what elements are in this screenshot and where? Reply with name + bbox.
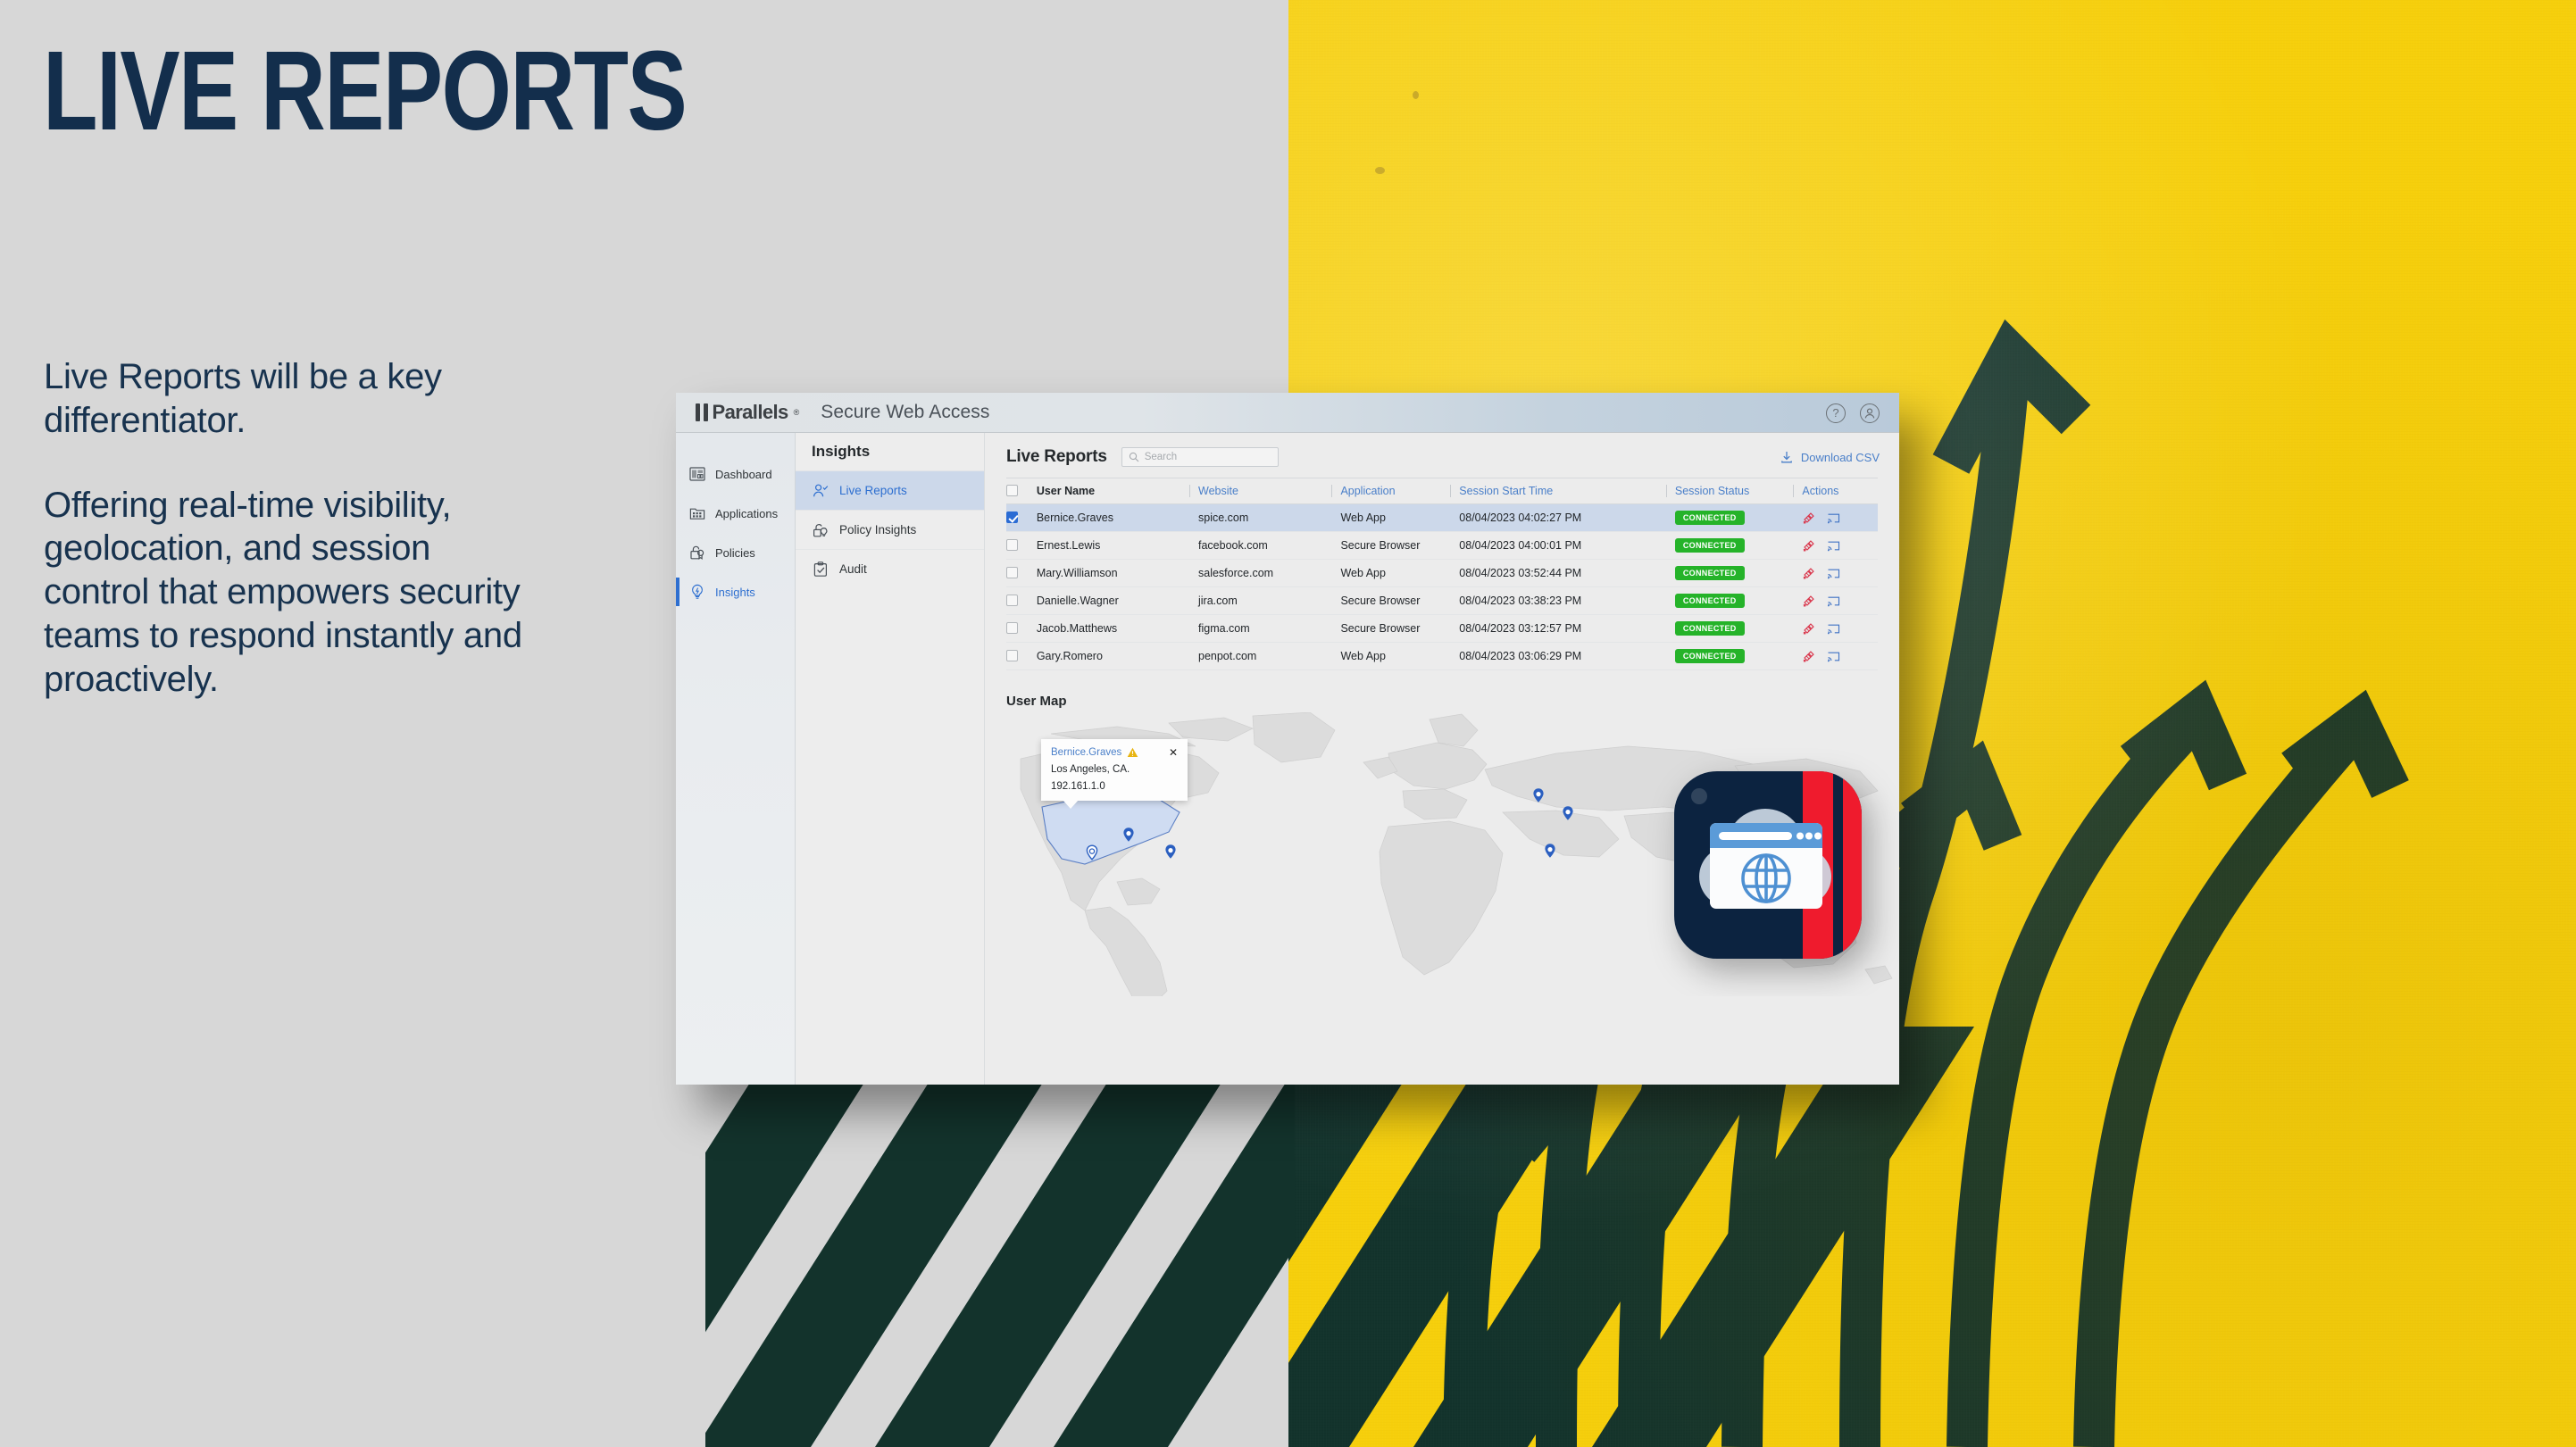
dashboard-icon [688,465,706,483]
cell-application: Secure Browser [1340,615,1459,643]
slide-canvas: LIVE REPORTS Live Reports will be a key … [0,0,2576,1447]
paper-speck [1413,91,1419,99]
screen-share-icon[interactable] [1827,539,1840,553]
map-pin[interactable] [1163,844,1178,863]
screen-share-icon[interactable] [1827,511,1840,525]
live-reports-table-wrapper: User Name Website Application Session St… [985,478,1899,670]
cell-actions [1802,532,1878,560]
disconnect-session-icon[interactable] [1802,539,1815,553]
avatar-glyph [1863,407,1876,420]
status-badge: CONNECTED [1675,594,1745,608]
insights-icon [688,583,706,601]
disconnect-session-icon[interactable] [1802,622,1815,636]
cell-session-status: CONNECTED [1675,643,1803,670]
parallels-logo: Parallels ® [696,401,799,424]
cell-website: jira.com [1198,587,1340,615]
search-placeholder: Search [1145,452,1177,462]
cell-website: facebook.com [1198,532,1340,560]
tooltip-ip: 192.161.1.0 [1051,781,1178,792]
disconnect-session-icon[interactable] [1802,650,1815,663]
sidebar-item-label: Policies [715,546,755,560]
row-select-cell[interactable] [1006,643,1037,670]
user-map-title: User Map [985,670,1899,709]
cell-actions [1802,587,1878,615]
column-header-session-status[interactable]: Session Status [1675,478,1803,504]
cell-application: Secure Browser [1340,532,1459,560]
row-select-cell[interactable] [1006,504,1037,532]
column-header-session-start-time[interactable]: Session Start Time [1459,478,1675,504]
subnav-item-audit[interactable]: Audit [796,549,984,588]
map-pin[interactable] [1531,787,1546,807]
map-pin[interactable] [1085,844,1099,864]
sidebar-item-insights[interactable]: Insights [676,572,795,611]
location-pin-icon [1531,787,1546,807]
row-checkbox[interactable] [1006,622,1018,634]
download-icon [1780,450,1794,464]
download-csv-button[interactable]: Download CSV [1780,450,1880,464]
cell-session-status: CONNECTED [1675,560,1803,587]
location-pin-icon [1121,827,1136,846]
status-badge: CONNECTED [1675,566,1745,580]
subnav-item-label: Policy Insights [839,523,916,536]
primary-nav-rail: Dashboard Applications [676,433,796,1085]
cell-actions [1802,615,1878,643]
column-header-actions[interactable]: Actions [1802,478,1878,504]
row-checkbox[interactable] [1006,511,1018,523]
row-checkbox[interactable] [1006,595,1018,606]
cell-user-name[interactable]: Gary.Romero [1037,643,1198,670]
cell-user-name[interactable]: Danielle.Wagner [1037,587,1198,615]
cell-user-name[interactable]: Ernest.Lewis [1037,532,1198,560]
row-select-cell[interactable] [1006,532,1037,560]
cell-session-status: CONNECTED [1675,504,1803,532]
search-input[interactable]: Search [1121,447,1279,467]
search-icon [1129,452,1139,462]
cell-session-start-time: 08/04/2023 03:52:44 PM [1459,560,1675,587]
location-pin-icon [1561,805,1575,825]
screen-share-icon[interactable] [1827,650,1840,663]
row-select-cell[interactable] [1006,615,1037,643]
disconnect-session-icon[interactable] [1802,511,1815,525]
registered-mark: ® [794,408,800,417]
subnav-item-live-reports[interactable]: Live Reports [796,470,984,510]
help-icon[interactable]: ? [1826,403,1846,423]
cell-user-name[interactable]: Mary.Williamson [1037,560,1198,587]
sidebar-item-policies[interactable]: Policies [676,533,795,572]
user-map[interactable]: Bernice.Graves ✕ Los Angeles, CA. 192.16… [985,712,1899,996]
map-pin[interactable] [1561,805,1575,825]
row-checkbox[interactable] [1006,539,1018,551]
tooltip-tail [1063,800,1079,809]
cell-application: Web App [1340,560,1459,587]
cell-session-start-time: 08/04/2023 03:12:57 PM [1459,615,1675,643]
user-account-icon[interactable] [1860,403,1880,423]
screen-share-icon[interactable] [1827,567,1840,580]
select-all-checkbox[interactable] [1006,485,1018,496]
map-tooltip[interactable]: Bernice.Graves ✕ Los Angeles, CA. 192.16… [1041,739,1188,801]
table-header: User Name Website Application Session St… [1006,478,1878,504]
tooltip-user-name[interactable]: Bernice.Graves [1051,747,1121,758]
location-pin-icon [1543,843,1557,862]
slide-headline: LIVE REPORTS [43,34,686,149]
cell-session-status: CONNECTED [1675,587,1803,615]
status-badge: CONNECTED [1675,511,1745,525]
row-select-cell[interactable] [1006,560,1037,587]
table-header-row: User Name Website Application Session St… [1006,478,1878,504]
cell-session-status: CONNECTED [1675,532,1803,560]
secure-web-access-app-icon [1669,766,1867,964]
table-row[interactable]: Danielle.Wagnerjira.comSecure Browser08/… [1006,587,1878,615]
row-select-cell[interactable] [1006,587,1037,615]
cell-session-start-time: 08/04/2023 04:02:27 PM [1459,504,1675,532]
brand-name: Parallels [713,401,788,424]
column-header-website[interactable]: Website [1198,478,1340,504]
cell-session-start-time: 08/04/2023 03:38:23 PM [1459,587,1675,615]
sidebar-item-dashboard[interactable]: Dashboard [676,454,795,494]
subnav-item-label: Audit [839,562,867,576]
location-pin-icon [1085,844,1099,864]
main-toolbar: Live Reports Search Download [985,433,1899,467]
insights-panel-title: Insights [796,433,984,470]
cell-actions [1802,643,1878,670]
sidebar-item-label: Insights [715,586,755,599]
main-content: Live Reports Search Download [985,433,1899,1085]
screen-share-icon[interactable] [1827,622,1840,636]
column-header-application[interactable]: Application [1340,478,1459,504]
disconnect-session-icon[interactable] [1802,567,1815,580]
row-checkbox[interactable] [1006,567,1018,578]
titlebar-actions: ? [1826,393,1880,433]
live-reports-icon [812,482,829,500]
cell-session-start-time: 08/04/2023 03:06:29 PM [1459,643,1675,670]
screen-share-icon[interactable] [1827,595,1840,608]
select-all-cell[interactable] [1006,478,1037,504]
window-titlebar: Parallels ® Secure Web Access ? [676,393,1899,433]
table-row[interactable]: Bernice.Gravesspice.comWeb App08/04/2023… [1006,504,1878,532]
tooltip-location: Los Angeles, CA. [1051,764,1178,775]
cell-website: spice.com [1198,504,1340,532]
map-pin[interactable] [1543,843,1557,862]
cell-user-name[interactable]: Jacob.Matthews [1037,615,1198,643]
body-paragraph-2: Offering real-time visibility, geolocati… [44,484,544,702]
sidebar-item-label: Applications [715,507,778,520]
live-reports-table: User Name Website Application Session St… [1006,478,1878,670]
secure-web-access-window: Parallels ® Secure Web Access ? [676,393,1899,1085]
sidebar-item-label: Dashboard [715,468,772,481]
column-header-user-name[interactable]: User Name [1037,478,1198,504]
cell-website: figma.com [1198,615,1340,643]
tooltip-header: Bernice.Graves ✕ [1051,747,1178,758]
cell-actions [1802,560,1878,587]
policies-icon [688,544,706,561]
cell-actions [1802,504,1878,532]
cell-application: Web App [1340,504,1459,532]
table-body: Bernice.Gravesspice.comWeb App08/04/2023… [1006,504,1878,670]
table-row[interactable]: Mary.Williamsonsalesforce.comWeb App08/0… [1006,560,1878,587]
status-badge: CONNECTED [1675,538,1745,553]
cell-website: salesforce.com [1198,560,1340,587]
paper-speck [1375,167,1385,174]
cell-user-name[interactable]: Bernice.Graves [1037,504,1198,532]
slide-body-text: Live Reports will be a key differentiato… [44,355,544,702]
parallels-bars-icon [696,403,708,421]
body-paragraph-1: Live Reports will be a key differentiato… [44,355,544,443]
status-badge: CONNECTED [1675,649,1745,663]
subnav-item-policy-insights[interactable]: Policy Insights [796,510,984,549]
page-title: Live Reports [1006,447,1107,467]
cell-website: penpot.com [1198,643,1340,670]
subnav-item-label: Live Reports [839,484,907,497]
cell-session-status: CONNECTED [1675,615,1803,643]
help-glyph: ? [1832,407,1838,419]
stripes-left-overflow [705,1027,1295,1447]
cell-session-start-time: 08/04/2023 04:00:01 PM [1459,532,1675,560]
app-title: Secure Web Access [821,402,989,423]
download-csv-label: Download CSV [1801,451,1880,464]
applications-icon [688,504,706,522]
insights-subnav: Insights Live Reports [796,433,985,1085]
map-pin[interactable] [1121,827,1136,846]
status-badge: CONNECTED [1675,621,1745,636]
cell-application: Secure Browser [1340,587,1459,615]
row-checkbox[interactable] [1006,650,1018,661]
policy-insights-icon [812,521,829,539]
cell-application: Web App [1340,643,1459,670]
table-row[interactable]: Jacob.Matthewsfigma.comSecure Browser08/… [1006,615,1878,643]
table-row[interactable]: Gary.Romeropenpot.comWeb App08/04/2023 0… [1006,643,1878,670]
audit-icon [812,561,829,578]
window-body: Dashboard Applications [676,433,1899,1085]
location-pin-icon [1163,844,1178,863]
sidebar-item-applications[interactable]: Applications [676,494,795,533]
close-icon[interactable]: ✕ [1169,747,1178,758]
warning-triangle-icon [1127,747,1138,758]
disconnect-session-icon[interactable] [1802,595,1815,608]
table-row[interactable]: Ernest.Lewisfacebook.comSecure Browser08… [1006,532,1878,560]
